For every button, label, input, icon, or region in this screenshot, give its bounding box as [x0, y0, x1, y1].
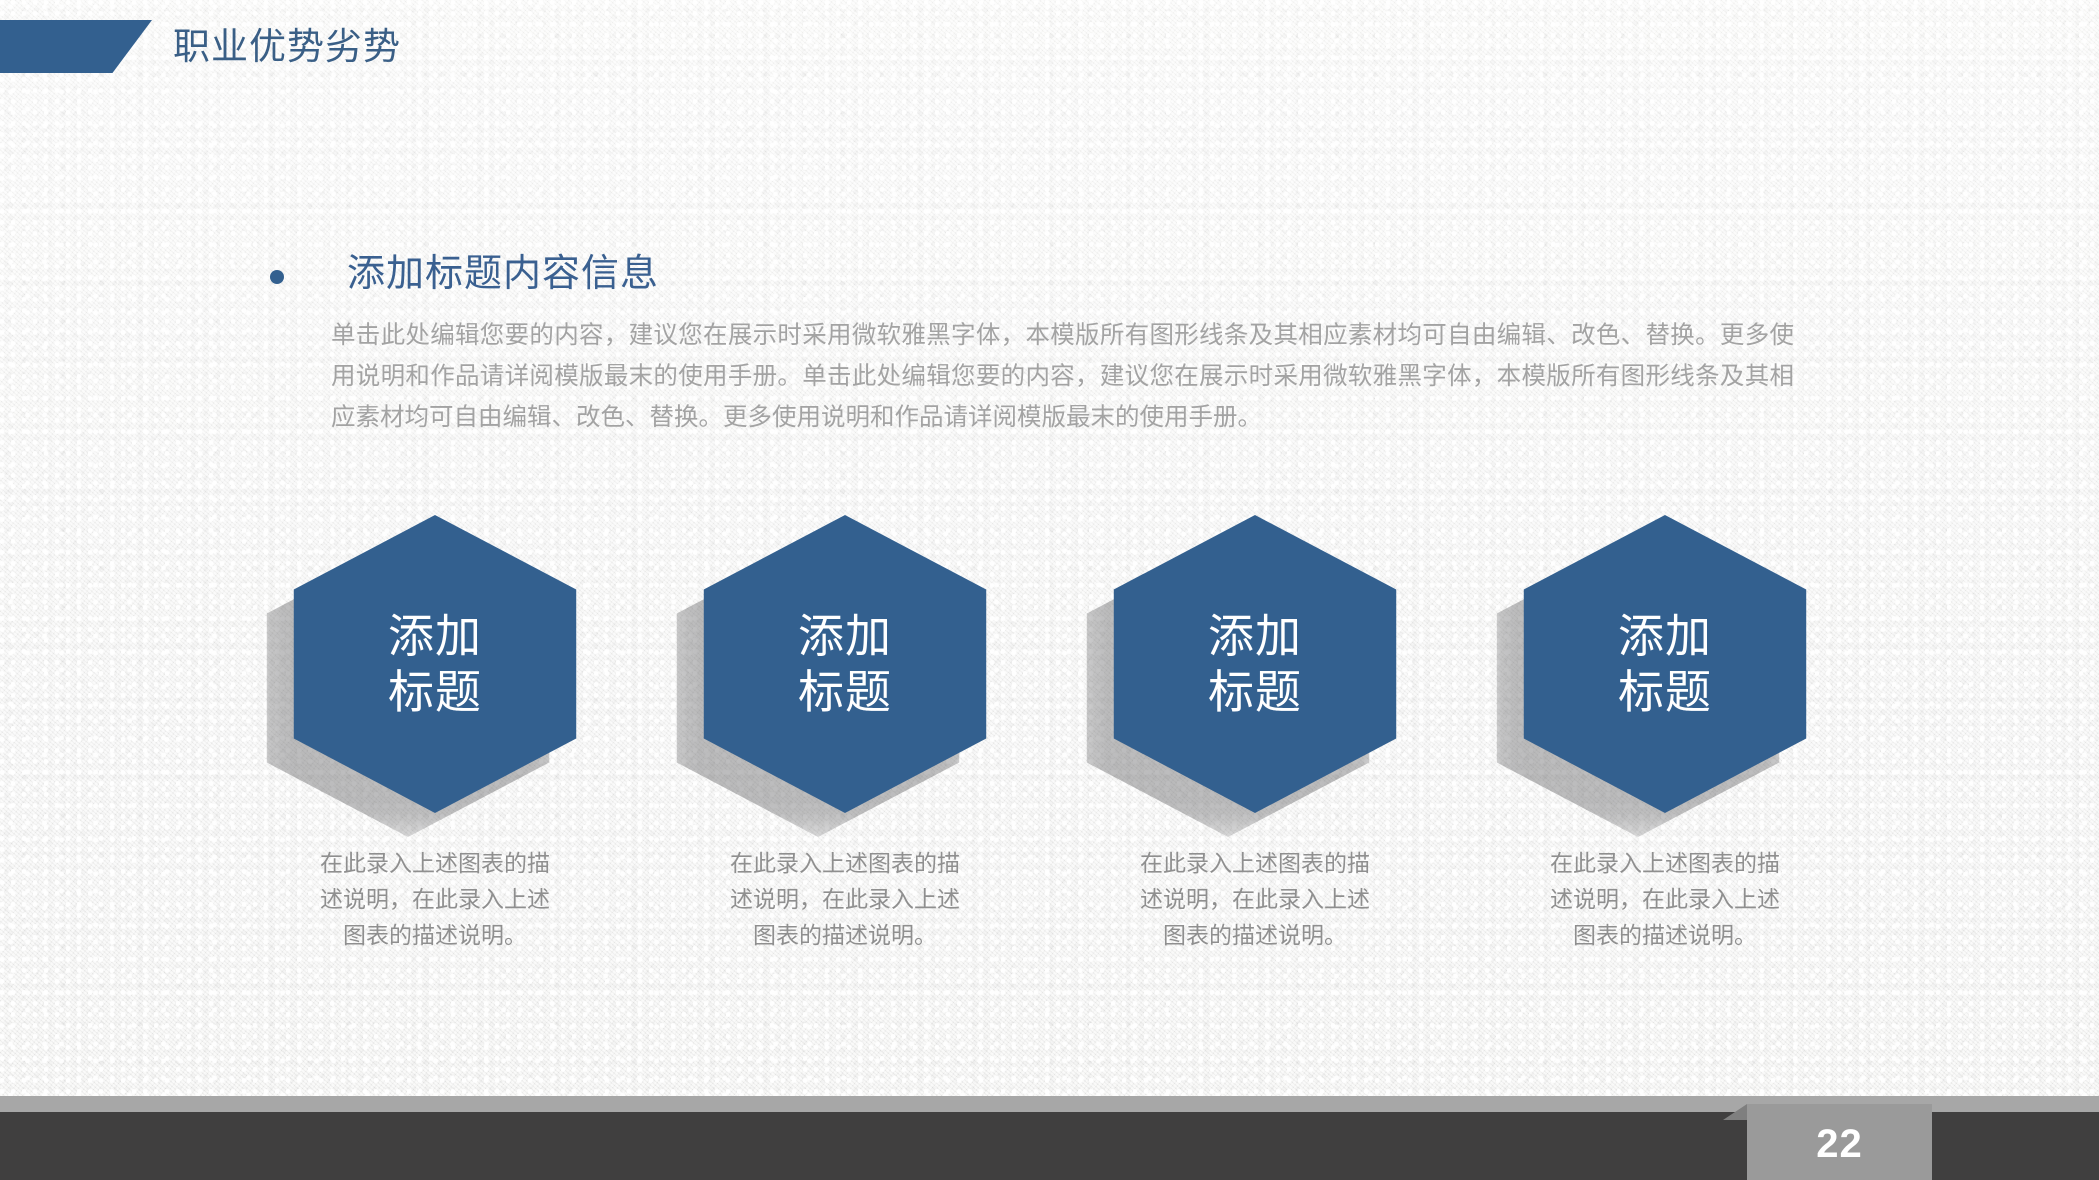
page-number-badge: 22 [1747, 1104, 1932, 1180]
page-title: 职业优势劣势 [173, 21, 401, 73]
hexagon-item[interactable]: 添加 标题 在此录入上述图表的描述说明，在此录入上述图表的描述说明。 [680, 515, 1010, 953]
hexagon-graphic[interactable]: 添加 标题 [1512, 515, 1819, 813]
hexagon-label: 添加 标题 [1208, 608, 1302, 720]
hexagon-item[interactable]: 添加 标题 在此录入上述图表的描述说明，在此录入上述图表的描述说明。 [1090, 515, 1420, 953]
hexagon-item[interactable]: 添加 标题 在此录入上述图表的描述说明，在此录入上述图表的描述说明。 [1500, 515, 1830, 953]
hexagon-graphic[interactable]: 添加 标题 [692, 515, 999, 813]
hexagon-label: 添加 标题 [1618, 608, 1712, 720]
hexagon-graphic[interactable]: 添加 标题 [282, 515, 589, 813]
header-accent-bar [0, 20, 152, 73]
hexagon-caption: 在此录入上述图表的描述说明，在此录入上述图表的描述说明。 [309, 845, 561, 953]
hexagon-caption: 在此录入上述图表的描述说明，在此录入上述图表的描述说明。 [1539, 845, 1791, 953]
hexagon-graphic[interactable]: 添加 标题 [1102, 515, 1409, 813]
slide: 职业优势劣势 添加标题内容信息 单击此处编辑您要的内容，建议您在展示时采用微软雅… [0, 0, 2099, 1180]
bullet-heading-text: 添加标题内容信息 [347, 250, 659, 298]
hexagon-item[interactable]: 添加 标题 在此录入上述图表的描述说明，在此录入上述图表的描述说明。 [270, 515, 600, 953]
page-number: 22 [1816, 1122, 1863, 1167]
hexagon-label: 添加 标题 [798, 608, 892, 720]
hexagon-caption: 在此录入上述图表的描述说明，在此录入上述图表的描述说明。 [719, 845, 971, 953]
hexagon-caption: 在此录入上述图表的描述说明，在此录入上述图表的描述说明。 [1129, 845, 1381, 953]
bullet-heading-row: 添加标题内容信息 [270, 250, 659, 298]
body-paragraph: 单击此处编辑您要的内容，建议您在展示时采用微软雅黑字体，本模版所有图形线条及其相… [331, 315, 1794, 438]
bullet-dot-icon [270, 270, 284, 284]
hexagon-label: 添加 标题 [388, 608, 482, 720]
hexagon-row: 添加 标题 在此录入上述图表的描述说明，在此录入上述图表的描述说明。 添加 标题… [270, 515, 1830, 953]
